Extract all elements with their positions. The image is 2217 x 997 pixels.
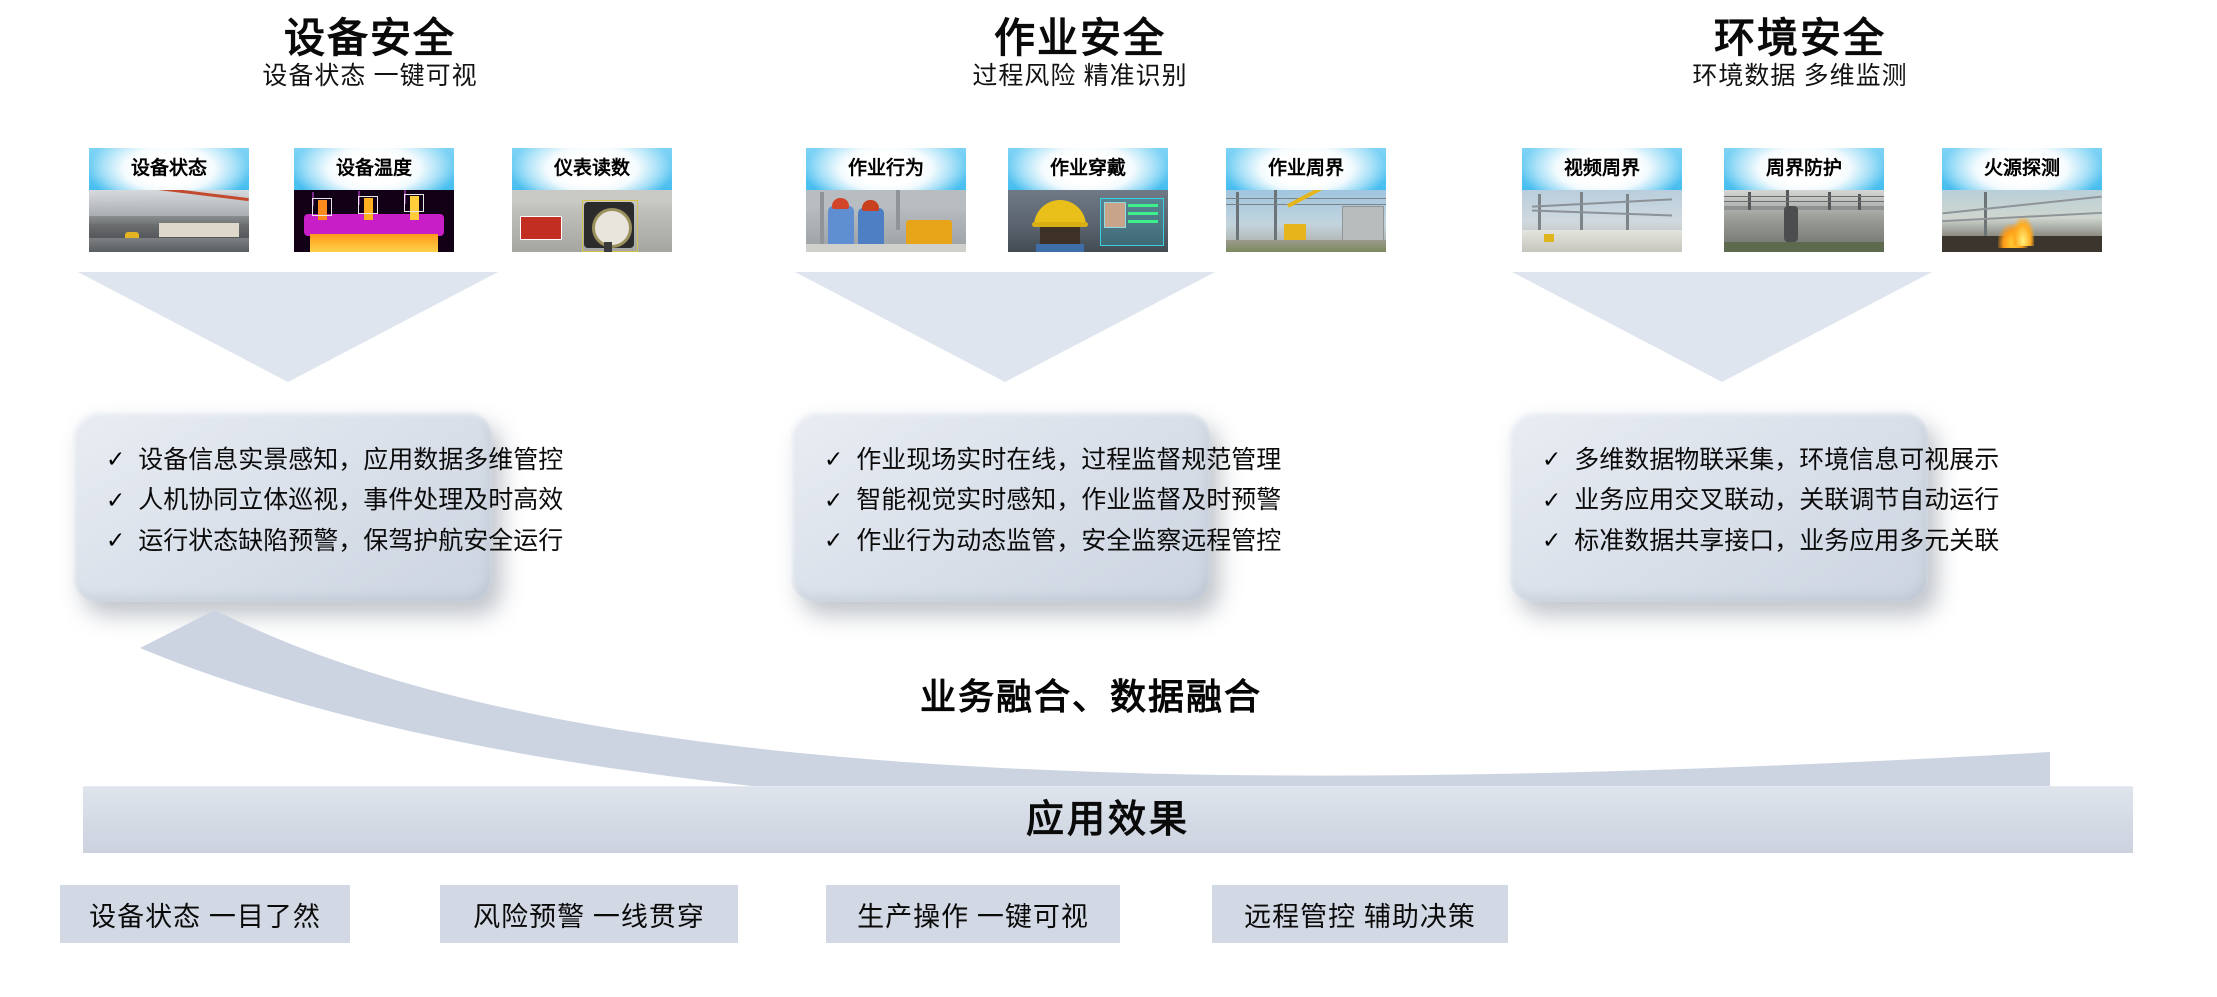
feature-card-caption: 作业穿戴 [1008,148,1168,190]
column-title-equipment-safety: 设备安全 [170,4,570,64]
feature-card-meter-reading[interactable]: 仪表读数 [512,148,672,252]
bullet-item: ✓ 标准数据共享接口，业务应用多元关联 [1542,526,1928,557]
effect-chip[interactable]: 远程管控 辅助决策 [1212,885,1508,943]
bullet-text: 人机协同立体巡视，事件处理及时高效 [138,485,563,516]
bullet-text: 多维数据物联采集，环境信息可视展示 [1574,445,1999,476]
feature-card-work-ppe[interactable]: 作业穿戴 [1008,148,1168,252]
check-icon: ✓ [824,446,843,475]
bullet-panel-equipment: ✓ 设备信息实景感知，应用数据多维管控 ✓ 人机协同立体巡视，事件处理及时高效 … [72,410,492,602]
feature-card-equipment-status[interactable]: 设备状态 [89,148,249,252]
bullet-text: 标准数据共享接口，业务应用多元关联 [1574,526,1999,557]
bullet-item: ✓ 作业行为动态监管，安全监察远程管控 [824,526,1210,557]
substation-corridor-photo [89,190,249,252]
bullet-item: ✓ 多维数据物联采集，环境信息可视展示 [1542,445,1928,476]
perimeter-fence-photo [1724,190,1884,252]
feature-card-caption: 仪表读数 [512,148,672,190]
column-subtitle-equipment-safety: 设备状态 一键可视 [170,56,570,92]
check-icon: ✓ [824,487,843,516]
column-subtitle-operation-safety: 过程风险 精准识别 [880,56,1280,92]
feature-card-caption: 周界防护 [1724,148,1884,190]
feature-card-video-perimeter[interactable]: 视频周界 [1522,148,1682,252]
helmet-ppe-recognition-photo [1008,190,1168,252]
effect-banner-label: 应用效果 [83,787,2133,853]
bullet-item: ✓ 运行状态缺陷预警，保驾护航安全运行 [106,526,492,557]
effect-chip-label: 远程管控 辅助决策 [1244,895,1476,934]
check-icon: ✓ [824,527,843,556]
feature-card-perimeter-protection[interactable]: 周界防护 [1724,148,1884,252]
bullet-panel-environment: ✓ 多维数据物联采集，环境信息可视展示 ✓ 业务应用交叉联动，关联调节自动运行 … [1508,410,1928,602]
gauge-meter-reading-photo [512,190,672,252]
slide-canvas: 设备安全 设备状态 一键可视 设备状态 设备温度 [0,0,2217,997]
feature-card-caption: 视频周界 [1522,148,1682,190]
column-title-environment-safety: 环境安全 [1600,4,2000,64]
feature-card-caption: 作业周界 [1226,148,1386,190]
workers-on-site-photo [806,190,966,252]
bullet-text: 运行状态缺陷预警，保驾护航安全运行 [138,526,563,557]
check-icon: ✓ [106,527,125,556]
check-icon: ✓ [1542,527,1561,556]
column-title-operation-safety: 作业安全 [880,4,1280,64]
feature-card-work-behavior[interactable]: 作业行为 [806,148,966,252]
fire-near-tower-photo [1942,190,2102,252]
down-arrow-environment [1512,272,1932,382]
effect-banner: 应用效果 [83,786,2133,853]
effect-chip-label: 设备状态 一目了然 [89,895,321,934]
bullet-text: 设备信息实景感知，应用数据多维管控 [138,445,563,476]
thermal-infrared-transformer-photo [294,190,454,252]
check-icon: ✓ [106,487,125,516]
bullet-item: ✓ 业务应用交叉联动，关联调节自动运行 [1542,485,1928,516]
effect-chip-label: 风险预警 一线贯穿 [473,895,705,934]
bullet-text: 作业行为动态监管，安全监察远程管控 [856,526,1281,557]
bullet-item: ✓ 人机协同立体巡视，事件处理及时高效 [106,485,492,516]
fusion-caption: 业务融合、数据融合 [920,668,1262,720]
bullet-panel-operation: ✓ 作业现场实时在线，过程监督规范管理 ✓ 智能视觉实时感知，作业监督及时预警 … [790,410,1210,602]
feature-card-caption: 设备状态 [89,148,249,190]
down-arrow-equipment [78,272,498,382]
effect-chip[interactable]: 生产操作 一键可视 [826,885,1120,943]
crane-near-powerline-photo [1226,190,1386,252]
bullet-text: 业务应用交叉联动，关联调节自动运行 [1574,485,1999,516]
effect-chip[interactable]: 设备状态 一目了然 [60,885,350,943]
feature-card-caption: 火源探测 [1942,148,2102,190]
bullet-item: ✓ 设备信息实景感知，应用数据多维管控 [106,445,492,476]
bullet-text: 智能视觉实时感知，作业监督及时预警 [856,485,1281,516]
down-arrow-operation [795,272,1215,382]
feature-card-caption: 作业行为 [806,148,966,190]
column-subtitle-environment-safety: 环境数据 多维监测 [1600,56,2000,92]
check-icon: ✓ [1542,446,1561,475]
bullet-item: ✓ 智能视觉实时感知，作业监督及时预警 [824,485,1210,516]
check-icon: ✓ [106,446,125,475]
feature-card-fire-detection[interactable]: 火源探测 [1942,148,2102,252]
bullet-item: ✓ 作业现场实时在线，过程监督规范管理 [824,445,1210,476]
effect-chip[interactable]: 风险预警 一线贯穿 [440,885,738,943]
bullet-text: 作业现场实时在线，过程监督规范管理 [856,445,1281,476]
feature-card-work-perimeter[interactable]: 作业周界 [1226,148,1386,252]
check-icon: ✓ [1542,487,1561,516]
feature-card-equipment-temperature[interactable]: 设备温度 [294,148,454,252]
substation-yard-photo [1522,190,1682,252]
feature-card-caption: 设备温度 [294,148,454,190]
effect-chip-label: 生产操作 一键可视 [857,895,1089,934]
